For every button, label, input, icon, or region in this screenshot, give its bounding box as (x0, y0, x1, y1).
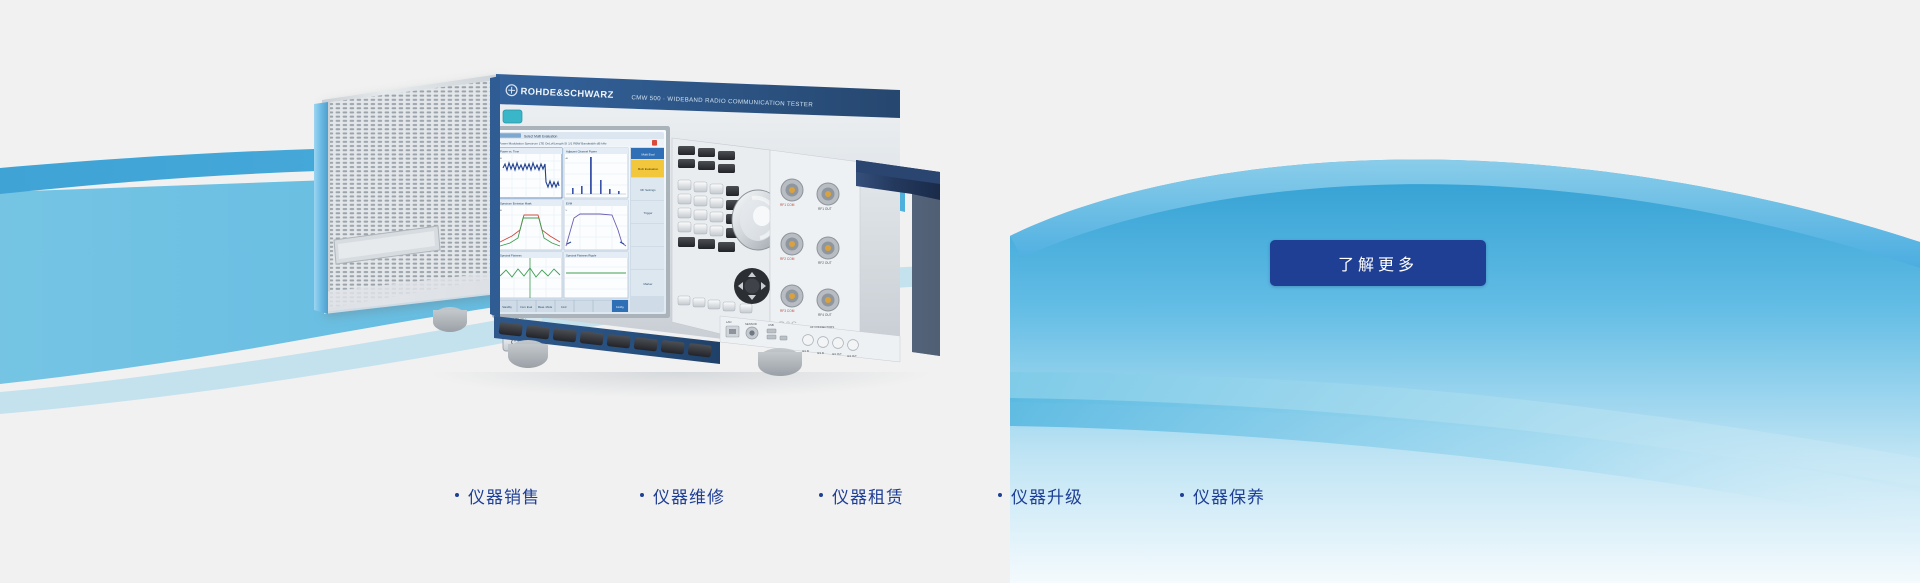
rf-connector-3-label: RF2 OUT (818, 261, 832, 265)
plot-power-vs-time: Power vs. Time dB (498, 148, 562, 198)
rf-connector-4-label: RF3 COM (780, 309, 795, 313)
screen-title: Select Multi Evaluation (524, 134, 558, 138)
plot-spectral-flatness-ripple: Spectral Flatness Ripple (564, 252, 628, 298)
rf-connector-0-label: RF1 COM (780, 203, 795, 207)
learn-more-button[interactable]: 了解更多 (1270, 240, 1486, 286)
service-link-maintenance[interactable]: 仪器保养 (1180, 483, 1265, 508)
softkey-1-label: Multi Evaluation (638, 167, 659, 171)
footer-tab-2-label: Meas. Mode (538, 305, 553, 309)
plot-0-title: Power vs. Time (500, 149, 520, 153)
af-connector-2-label: AF1 OUT (832, 353, 842, 356)
io-usb-label: USB (768, 323, 774, 327)
bullet-dot-icon (998, 493, 1002, 497)
bullet-dot-icon (1180, 493, 1184, 497)
service-link-upgrade[interactable]: 仪器升级 (998, 483, 1083, 508)
instrument-photo-cmw500: ROHDE&SCHWARZ CMW 500 · WIDEBAND RADIO C… (300, 60, 1130, 380)
bullet-dot-icon (455, 493, 459, 497)
plot-spectrum-emission-mask: Spectrum Emission Mask dB (498, 200, 562, 250)
service-link-repair-label: 仪器维修 (653, 483, 725, 508)
service-link-rental[interactable]: 仪器租赁 (819, 483, 904, 508)
plot-2-title: Spectrum Emission Mask (500, 201, 532, 205)
hero-banner: ROHDE&SCHWARZ CMW 500 · WIDEBAND RADIO C… (0, 0, 1920, 583)
screen-footer-tabs: Standby Cont. Eval Meas. Mode Conf. Conf… (498, 300, 628, 313)
instrument-front: ROHDE&SCHWARZ CMW 500 · WIDEBAND RADIO C… (490, 74, 940, 364)
plot-5-title: Spectral Flatness Ripple (566, 253, 597, 257)
plot-spectral-flatness: Spectral Flatness (498, 252, 562, 298)
rf-connector-5-label: RF4 OUT (818, 313, 832, 317)
plot-adjacent-channel-power: Adjacent Channel Power (564, 148, 628, 198)
rf-connector-panel: RF1 COM RF1 OUT RF2 COM RF2 O (770, 150, 860, 352)
instrument-left-vented-panel (320, 70, 510, 320)
io-sensor-label: SENSOR (745, 322, 757, 326)
plot-evm: EVM % (564, 200, 628, 250)
plot-3-title: EVM (566, 201, 573, 205)
rf-connector-2-label: RF2 COM (780, 257, 795, 261)
service-link-maintenance-label: 仪器保养 (1193, 483, 1265, 508)
screen-softkeys: Multi Eval Multi Evaluation RF Settings … (630, 147, 666, 314)
service-link-upgrade-label: 仪器升级 (1011, 483, 1083, 508)
footer-tab-0-label: Standby (502, 305, 512, 309)
bullet-dot-icon (640, 493, 644, 497)
front-frame-left (490, 76, 500, 318)
service-links: 仪器销售 仪器维修 仪器租赁 仪器升级 仪器保养 (455, 478, 1455, 512)
side-key-0 (503, 110, 522, 123)
io-lan-label: LAN (726, 320, 731, 324)
af-connector-3-label: AF2 OUT (847, 355, 857, 358)
corner-post-left (314, 102, 328, 314)
io-sensor: SENSOR (745, 322, 758, 339)
plot-4-title: Spectral Flatness (500, 253, 522, 257)
af-connector-0-label: AF1 IN (802, 350, 809, 353)
softkey-2-label: RF Settings (640, 188, 656, 192)
io-af-label: AF CONNECTORS (810, 325, 834, 329)
af-connector-1-label: AF2 IN (817, 352, 824, 355)
screen-menu: Power Modulation Spectrum LTE OnLvl/Leng… (499, 142, 607, 146)
service-link-repair[interactable]: 仪器维修 (640, 483, 725, 508)
service-link-sales-label: 仪器销售 (468, 483, 540, 508)
footer-tab-1-label: Cont. Eval (520, 305, 532, 309)
softkey-3-label: Trigger (643, 211, 652, 215)
plot-1-title: Adjacent Channel Power (566, 149, 597, 153)
plot-3-ylabel: % (565, 210, 567, 212)
rf-connector-1-label: RF1 OUT (818, 207, 832, 211)
footer-tab-6-label: Config. (616, 305, 624, 309)
softkey-0-label: Multi Eval (641, 152, 654, 156)
softkey-6-label: Marker (644, 282, 653, 286)
keypad-block (672, 138, 784, 346)
service-link-rental-label: 仪器租赁 (832, 483, 904, 508)
direction-pad[interactable] (734, 268, 770, 304)
service-link-sales[interactable]: 仪器销售 (455, 483, 540, 508)
footer-tab-3-label: Conf. (561, 305, 567, 309)
bullet-dot-icon (819, 493, 823, 497)
instrument-display: Select Multi Evaluation Power Modulation… (492, 126, 670, 318)
